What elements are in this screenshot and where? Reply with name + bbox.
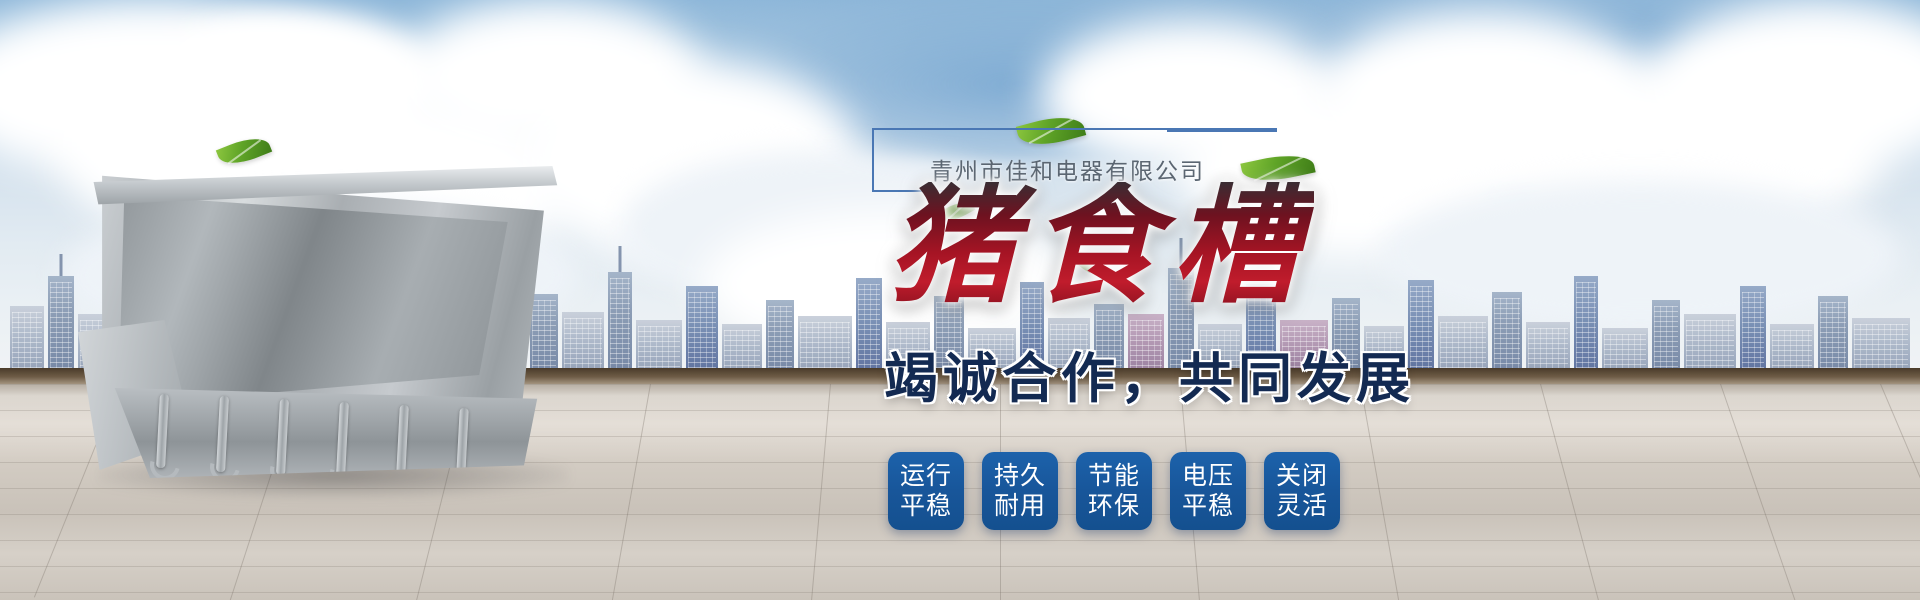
feature-badge-line2: 平稳 bbox=[900, 491, 952, 522]
feature-badge[interactable]: 持久 耐用 bbox=[982, 452, 1058, 530]
feature-badge-line2: 平稳 bbox=[1182, 491, 1234, 522]
banner-subtitle: 竭诚合作，共同发展 bbox=[884, 352, 1415, 406]
feature-badge-line1: 电压 bbox=[1182, 461, 1234, 492]
feature-badge-line2: 灵活 bbox=[1276, 491, 1328, 522]
feature-badge[interactable]: 关闭 灵活 bbox=[1264, 452, 1340, 530]
banner-copy: 青州市佳和电器有限公司 猪食槽 竭诚合作，共同发展 运行 平稳 持久 耐用 节能… bbox=[0, 0, 1920, 600]
feature-badge-list: 运行 平稳 持久 耐用 节能 环保 电压 平稳 关闭 灵活 bbox=[888, 452, 1340, 530]
feature-badge-line2: 耐用 bbox=[994, 491, 1046, 522]
product-banner: 青州市佳和电器有限公司 猪食槽 竭诚合作，共同发展 运行 平稳 持久 耐用 节能… bbox=[0, 0, 1920, 600]
feature-badge-line1: 运行 bbox=[900, 461, 952, 492]
banner-title: 猪食槽 bbox=[888, 182, 1314, 310]
feature-badge-line2: 环保 bbox=[1088, 491, 1140, 522]
feature-badge-line1: 节能 bbox=[1088, 461, 1140, 492]
feature-badge[interactable]: 节能 环保 bbox=[1076, 452, 1152, 530]
feature-badge[interactable]: 运行 平稳 bbox=[888, 452, 964, 530]
feature-badge-line1: 关闭 bbox=[1276, 461, 1328, 492]
feature-badge-line1: 持久 bbox=[994, 461, 1046, 492]
feature-badge[interactable]: 电压 平稳 bbox=[1170, 452, 1246, 530]
